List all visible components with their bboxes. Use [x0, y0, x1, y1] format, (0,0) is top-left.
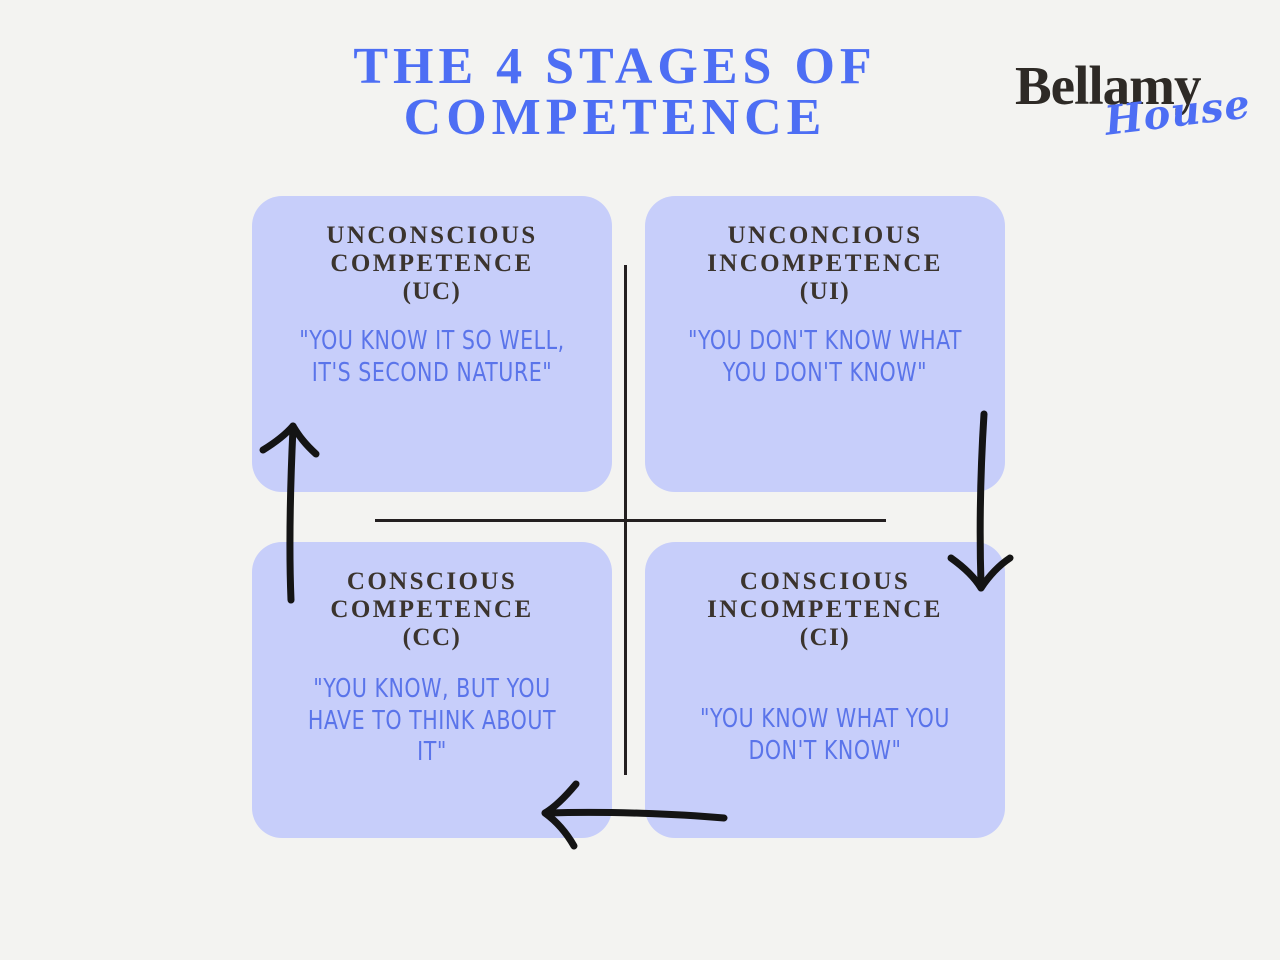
quadrant-heading-line-1: UNCONSCIOUS — [274, 222, 590, 250]
quadrant-quote: "YOU KNOW WHAT YOU DON'T KNOW" — [686, 704, 964, 767]
quadrant-abbreviation: (CC) — [274, 624, 590, 652]
infographic-canvas: THE 4 STAGES OF COMPETENCE Bellamy House… — [0, 0, 1280, 960]
quote-line-2: YOU DON'T KNOW" — [723, 358, 927, 388]
horizontal-axis-line — [375, 519, 886, 522]
title-line-1: THE 4 STAGES OF — [230, 42, 1000, 93]
arrow-down-icon — [948, 412, 1018, 602]
page-title: THE 4 STAGES OF COMPETENCE — [230, 42, 1000, 144]
arrow-up-icon — [258, 412, 328, 602]
quadrant-quote: "YOU DON'T KNOW WHAT YOU DON'T KNOW" — [686, 326, 964, 389]
quote-line-1: "YOU KNOW WHAT YOU — [700, 704, 950, 734]
quadrant-abbreviation: (UI) — [667, 278, 983, 306]
quote-line-1: "YOU KNOW IT SO WELL, — [299, 326, 564, 356]
title-line-2: COMPETENCE — [230, 93, 1000, 144]
quadrant-abbreviation: (CI) — [667, 624, 983, 652]
arrow-left-icon — [538, 780, 728, 850]
quadrant-heading: UNCONCIOUS INCOMPETENCE (UI) — [667, 222, 983, 306]
quote-line-1: "YOU DON'T KNOW WHAT — [688, 326, 962, 356]
quadrant-quote: "YOU KNOW, BUT YOU HAVE TO THINK ABOUT I… — [293, 674, 571, 769]
quote-line-3: IT" — [417, 737, 447, 767]
quote-line-1: "YOU KNOW, BUT YOU — [313, 674, 550, 704]
quadrant-heading-line-2: INCOMPETENCE — [667, 250, 983, 278]
quadrant-heading-line-2: COMPETENCE — [274, 250, 590, 278]
quadrant-abbreviation: (UC) — [274, 278, 590, 306]
quadrant-quote: "YOU KNOW IT SO WELL, IT'S SECOND NATURE… — [293, 326, 571, 389]
quote-line-2: IT'S SECOND NATURE" — [312, 358, 552, 388]
quadrant-heading: CONSCIOUS INCOMPETENCE (CI) — [667, 568, 983, 652]
quote-line-2: DON'T KNOW" — [749, 736, 902, 766]
quadrant-heading: UNCONSCIOUS COMPETENCE (UC) — [274, 222, 590, 306]
brand-logo: Bellamy House — [1005, 40, 1245, 160]
quote-line-2: HAVE TO THINK ABOUT — [308, 706, 556, 736]
quadrant-heading-line-1: UNCONCIOUS — [667, 222, 983, 250]
quadrant-heading-line-1: CONSCIOUS — [667, 568, 983, 596]
quadrant-heading-line-2: INCOMPETENCE — [667, 596, 983, 624]
